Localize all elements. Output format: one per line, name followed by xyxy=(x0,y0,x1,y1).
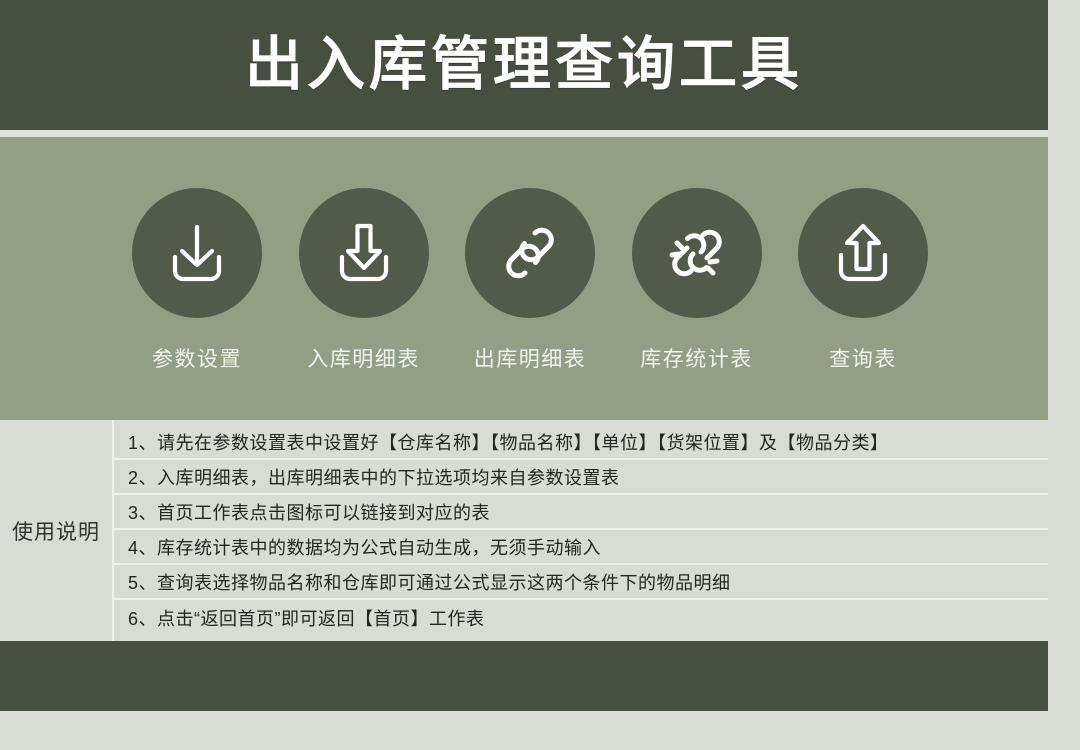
instructions-section: 使用说明 1、请先在参数设置表中设置好【仓库名称】【物品名称】【单位】【货架位置… xyxy=(0,420,1048,641)
page-header: 出入库管理查询工具 xyxy=(0,0,1048,130)
instructions-label: 使用说明 xyxy=(12,516,100,546)
download-bold-arrow-icon[interactable] xyxy=(299,188,429,318)
footer-bar xyxy=(0,641,1048,711)
page-title: 出入库管理查询工具 xyxy=(245,36,803,94)
instruction-row: 6、点击“返回首页”即可返回【首页】工作表 xyxy=(114,600,1048,635)
instruction-row: 3、首页工作表点击图标可以链接到对应的表 xyxy=(114,495,1048,530)
shortcut-item-stock[interactable]: 库存统计表 xyxy=(630,188,764,370)
shortcut-item-inbound[interactable]: 入库明细表 xyxy=(297,188,431,370)
shortcut-label: 出库明细表 xyxy=(474,349,587,370)
instruction-row: 5、查询表选择物品名称和仓库即可通过公式显示这两个条件下的物品明细 xyxy=(114,565,1048,600)
shortcut-item-params[interactable]: 参数设置 xyxy=(130,188,264,370)
app-root: 出入库管理查询工具 参数设置 xyxy=(0,0,1080,750)
upload-arrow-icon[interactable] xyxy=(798,188,928,318)
broken-link-icon[interactable] xyxy=(632,188,762,318)
right-margin xyxy=(1048,0,1080,750)
shortcut-row: 参数设置 入库明细表 xyxy=(130,188,930,370)
link-chain-icon[interactable] xyxy=(465,188,595,318)
instruction-row: 2、入库明细表，出库明细表中的下拉选项均来自参数设置表 xyxy=(114,460,1048,495)
bottom-margin xyxy=(0,711,1048,750)
instructions-label-cell: 使用说明 xyxy=(0,420,114,641)
header-divider xyxy=(0,130,1048,137)
shortcut-label: 库存统计表 xyxy=(640,349,753,370)
shortcut-label: 入库明细表 xyxy=(307,349,420,370)
shortcut-band: 参数设置 入库明细表 xyxy=(0,137,1048,420)
shortcut-label: 参数设置 xyxy=(152,349,242,370)
download-arrow-icon[interactable] xyxy=(132,188,262,318)
shortcut-item-outbound[interactable]: 出库明细表 xyxy=(463,188,597,370)
shortcut-label: 查询表 xyxy=(829,349,897,370)
instruction-row: 1、请先在参数设置表中设置好【仓库名称】【物品名称】【单位】【货架位置】及【物品… xyxy=(114,425,1048,460)
instruction-row: 4、库存统计表中的数据均为公式自动生成，无须手动输入 xyxy=(114,530,1048,565)
shortcut-item-query[interactable]: 查询表 xyxy=(796,188,930,370)
instructions-list: 1、请先在参数设置表中设置好【仓库名称】【物品名称】【单位】【货架位置】及【物品… xyxy=(114,420,1048,641)
